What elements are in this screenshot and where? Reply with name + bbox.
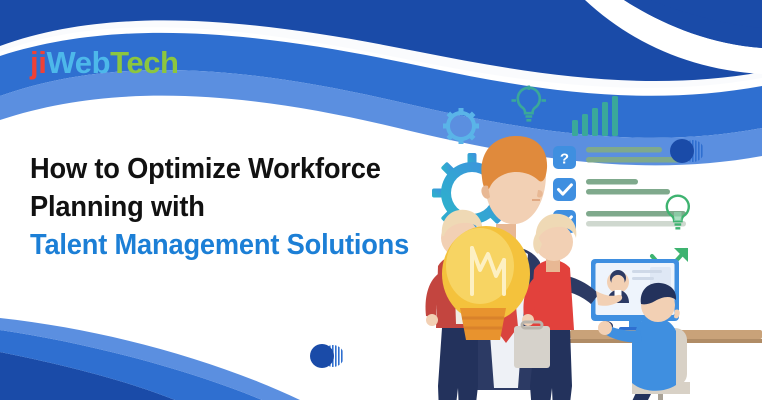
checklist-question-item: ?	[553, 146, 686, 169]
swoosh-bottom-dark	[0, 352, 175, 400]
dot-solid-half	[310, 344, 334, 368]
briefcase	[514, 326, 550, 368]
checklist-group: ?	[553, 146, 686, 233]
blog-banner: jiWebTech How to Optimize Workforce Plan…	[0, 0, 762, 400]
swoosh-bottom-light	[0, 318, 300, 400]
lightbulb-green-fill	[674, 212, 682, 221]
dot-solid-half	[670, 139, 694, 163]
headline-line-3: Talent Management Solutions	[30, 226, 397, 264]
headline-block: How to Optimize Workforce Planning with …	[30, 150, 420, 264]
lightbulb-teal-icon	[512, 86, 547, 121]
site-logo[interactable]: jiWebTech	[30, 47, 179, 78]
headline-line-2: Planning with	[30, 188, 397, 226]
swoosh-corner-arc-white	[585, 0, 762, 74]
swoosh-bottom-mid	[0, 330, 262, 400]
logo-part-web: Web	[46, 45, 110, 80]
hero-illustration: ?	[410, 78, 762, 400]
bar-chart-icon	[572, 96, 618, 136]
logo-part-tech: Tech	[110, 45, 178, 80]
striped-circle-decoration-bottom	[308, 343, 350, 369]
swoosh-corner-arc-blue	[624, 0, 762, 48]
headline-line-1: How to Optimize Workforce	[30, 150, 397, 188]
striped-circle-decoration-right	[668, 138, 710, 164]
svg-text:?: ?	[560, 151, 569, 168]
logo-part-ji: ji	[30, 45, 46, 80]
checklist-check-item-1	[553, 178, 670, 201]
gear-small-icon	[443, 108, 479, 144]
